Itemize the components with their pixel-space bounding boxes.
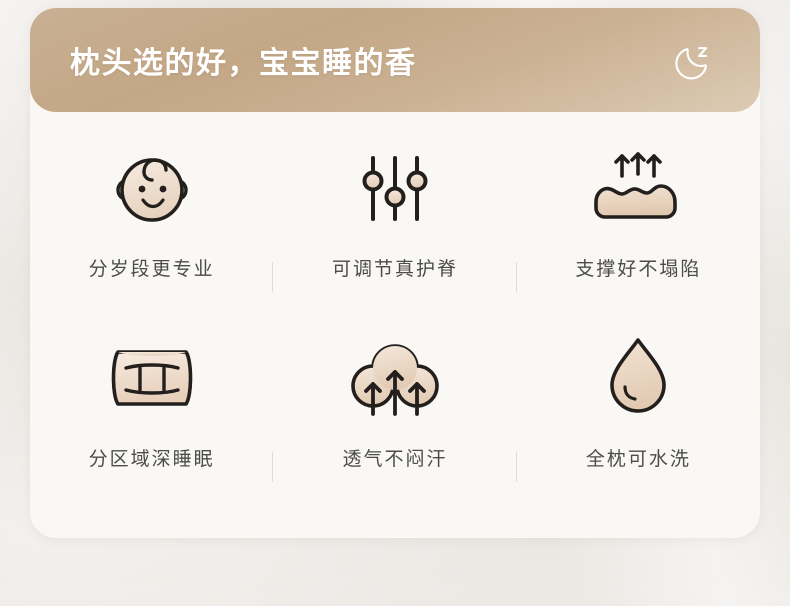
feature-item-zoned-sleep[interactable]: 分区域深睡眠: [30, 326, 273, 471]
feature-item-adjustable[interactable]: 可调节真护脊: [273, 136, 516, 281]
feature-grid: 分岁段更专业: [30, 112, 760, 538]
feature-label: 分岁段更专业: [89, 254, 215, 281]
breathable-cotton-arrows-icon: [343, 326, 447, 430]
feature-label: 支撑好不塌陷: [575, 254, 701, 281]
card-header: 枕头选的好，宝宝睡的香: [30, 8, 760, 112]
feature-label: 全枕可水洗: [586, 444, 691, 471]
feature-item-baby-stage[interactable]: 分岁段更专业: [30, 136, 273, 281]
page-title: 枕头选的好，宝宝睡的香: [70, 38, 417, 82]
moon-sleep-icon: [672, 37, 724, 83]
promo-card: 枕头选的好，宝宝睡的香: [30, 8, 760, 538]
pillow-support-arrows-icon: [582, 136, 694, 240]
feature-label: 分区域深睡眠: [89, 444, 215, 471]
feature-item-support[interactable]: 支撑好不塌陷: [517, 136, 760, 281]
feature-row: 分岁段更专业: [30, 136, 760, 326]
baby-face-icon: [104, 136, 200, 240]
feature-label: 透气不闷汗: [342, 444, 447, 471]
feature-item-washable[interactable]: 全枕可水洗: [517, 326, 760, 471]
feature-label: 可调节真护脊: [332, 254, 458, 281]
feature-row: 分区域深睡眠: [30, 326, 760, 516]
zoned-pillow-icon: [96, 326, 208, 430]
feature-item-breathable[interactable]: 透气不闷汗: [273, 326, 516, 471]
water-drop-icon: [590, 326, 686, 430]
sliders-icon: [347, 136, 443, 240]
